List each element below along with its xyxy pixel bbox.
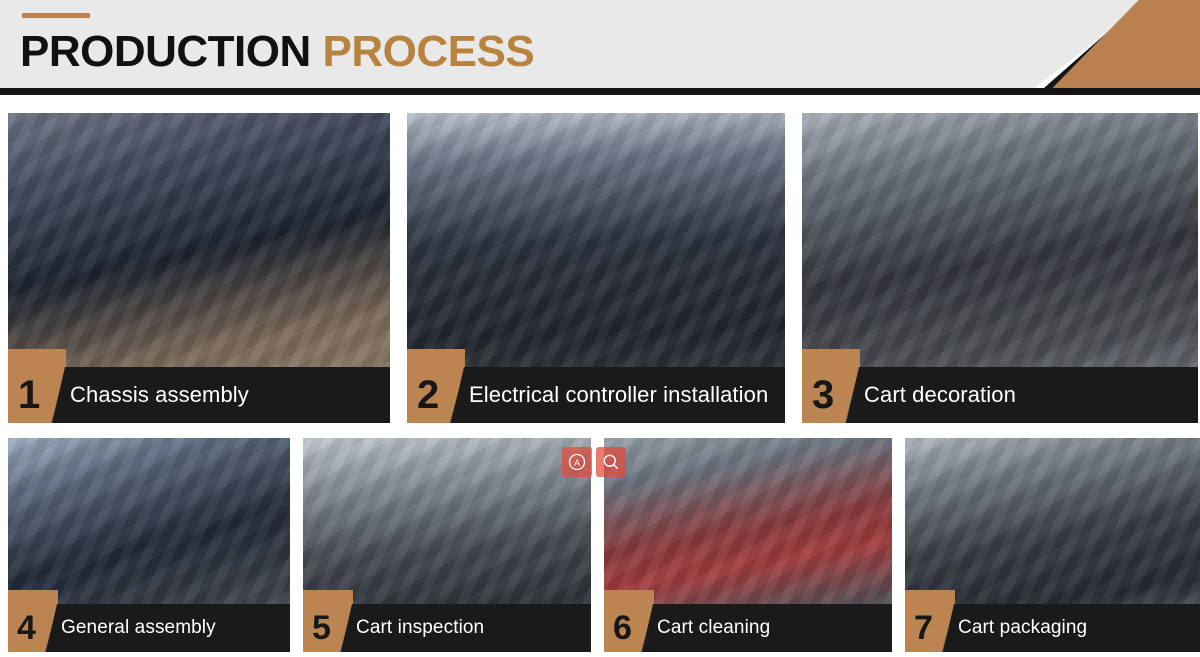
svg-text:A: A bbox=[574, 458, 581, 468]
process-step-caption: 4General assembly bbox=[8, 604, 290, 652]
step-label: General assembly bbox=[46, 604, 290, 652]
process-step-card[interactable]: 6Cart cleaning bbox=[604, 438, 892, 652]
process-step-caption: 7Cart packaging bbox=[905, 604, 1200, 652]
translate-icon[interactable]: A bbox=[562, 447, 592, 477]
page-header: PRODUCTION PROCESS bbox=[0, 0, 1200, 88]
page-title: PRODUCTION PROCESS bbox=[20, 26, 534, 78]
step-number-badge-riser bbox=[303, 590, 353, 604]
process-step-card[interactable]: 3Cart decoration bbox=[802, 113, 1198, 423]
process-gallery: 1Chassis assembly2Electrical controller … bbox=[0, 95, 1200, 657]
process-step-card[interactable]: 5Cart inspection bbox=[303, 438, 591, 652]
step-number-badge-riser bbox=[604, 590, 654, 604]
step-number-badge-riser bbox=[8, 349, 66, 367]
step-label: Cart packaging bbox=[943, 604, 1200, 652]
process-step-card[interactable]: 4General assembly bbox=[8, 438, 290, 652]
step-label: Chassis assembly bbox=[52, 367, 390, 423]
page-title-accent: PROCESS bbox=[323, 27, 535, 76]
step-label: Cart inspection bbox=[341, 604, 591, 652]
page-title-primary: PRODUCTION bbox=[20, 27, 311, 76]
process-step-caption: 5Cart inspection bbox=[303, 604, 591, 652]
process-step-caption: 2Electrical controller installation bbox=[407, 367, 785, 423]
step-label: Cart decoration bbox=[846, 367, 1198, 423]
process-step-caption: 3Cart decoration bbox=[802, 367, 1198, 423]
corner-decoration-gold bbox=[1020, 0, 1200, 88]
process-step-card[interactable]: 2Electrical controller installation bbox=[407, 113, 785, 423]
process-row-top: 1Chassis assembly2Electrical controller … bbox=[0, 113, 1200, 423]
step-number-badge-riser bbox=[905, 590, 955, 604]
process-step-card[interactable]: 1Chassis assembly bbox=[8, 113, 390, 423]
step-number-badge-riser bbox=[8, 590, 58, 604]
process-step-caption: 6Cart cleaning bbox=[604, 604, 892, 652]
search-icon[interactable] bbox=[596, 447, 626, 477]
floating-overlay-toolbar[interactable]: A bbox=[562, 447, 626, 477]
step-label: Electrical controller installation bbox=[451, 367, 785, 423]
step-label: Cart cleaning bbox=[642, 604, 892, 652]
process-step-caption: 1Chassis assembly bbox=[8, 367, 390, 423]
process-step-card[interactable]: 7Cart packaging bbox=[905, 438, 1200, 652]
step-number-badge-riser bbox=[407, 349, 465, 367]
accent-dash-icon bbox=[22, 13, 90, 18]
step-number-badge-riser bbox=[802, 349, 860, 367]
header-divider bbox=[0, 88, 1200, 95]
